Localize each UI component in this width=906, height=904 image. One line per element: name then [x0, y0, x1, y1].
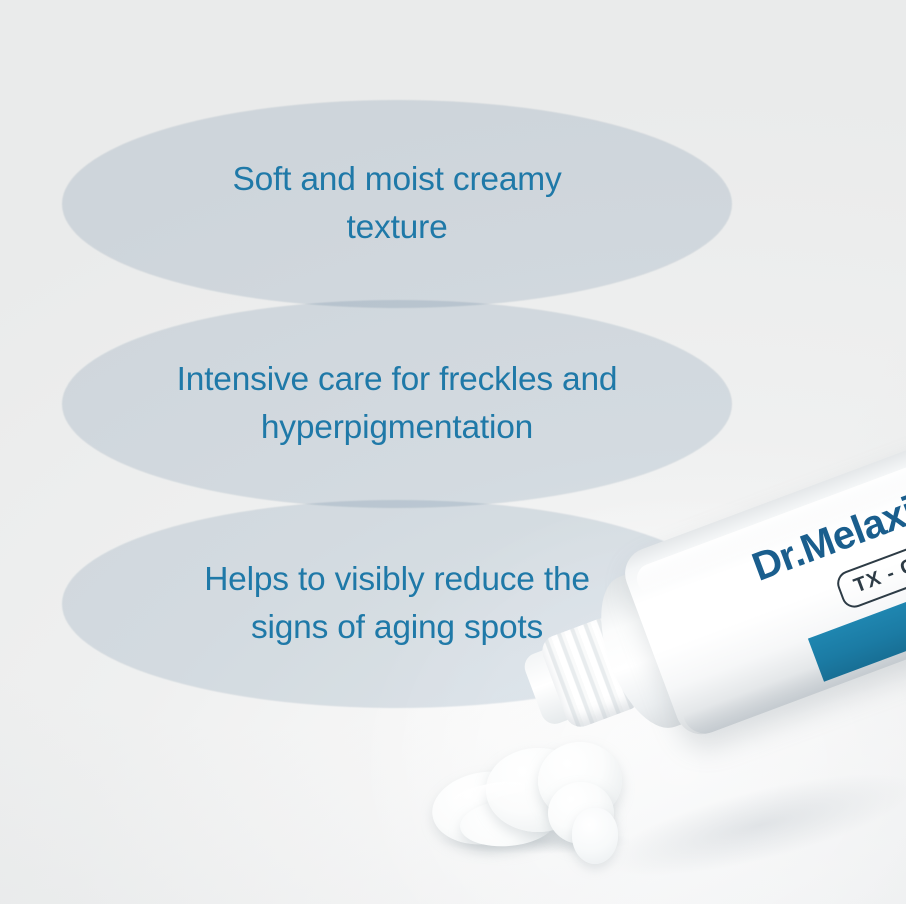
benefit-item-texture: Soft and moist creamy texture	[62, 100, 732, 308]
benefit-label: Soft and moist creamy texture	[232, 156, 561, 252]
cream-swirl	[430, 742, 640, 850]
benefit-label: Helps to visibly reduce the signs of agi…	[204, 556, 590, 652]
product-benefits-graphic: Soft and moist creamy texture Intensive …	[0, 0, 906, 904]
cream-drip	[572, 808, 618, 864]
benefit-label: Intensive care for freckles and hyperpig…	[177, 356, 618, 452]
